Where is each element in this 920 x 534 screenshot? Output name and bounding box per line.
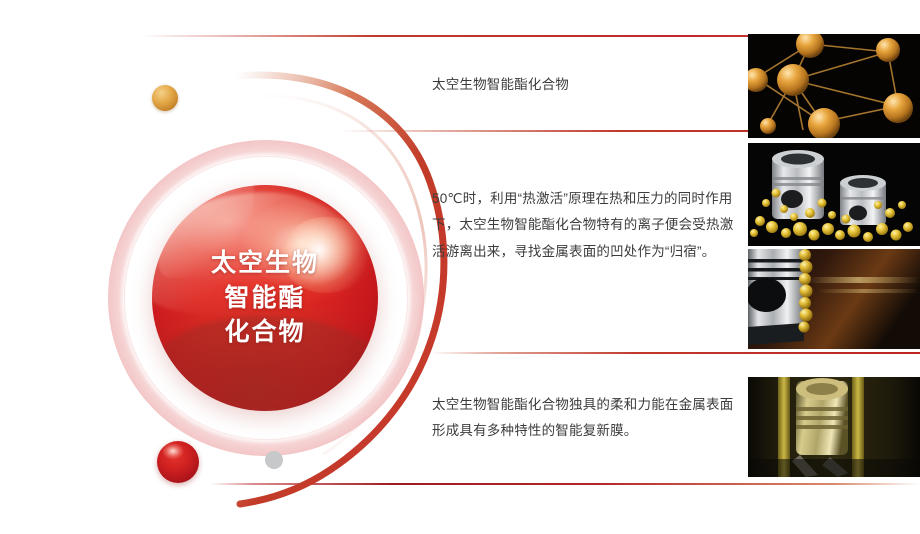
sphere-label: 太空生物 智能酯 化合物 <box>152 185 378 411</box>
text-block-2: 50℃时，利用“热激活”原理在热和压力的同时作用下，太空生物智能酯化合物特有的离… <box>432 186 742 265</box>
photo-piston-closeup <box>748 249 920 349</box>
sphere-label-line-3: 化合物 <box>224 315 305 350</box>
text-block-3: 太空生物智能酯化合物独具的柔和力能在金属表面形成具有多种特性的智能复新膜。 <box>432 392 742 445</box>
red-sphere-icon <box>157 441 199 483</box>
slide-canvas: 太空生物 智能酯 化合物 太空生物智能酯化合物 50℃时，利用“热激活”原理在热… <box>0 0 920 534</box>
photo-molecule <box>748 34 920 138</box>
gold-sphere-icon <box>152 85 178 111</box>
text-block-2-paragraph: 50℃时，利用“热激活”原理在热和压力的同时作用下，太空生物智能酯化合物特有的离… <box>432 186 742 265</box>
divider-lower <box>430 352 920 354</box>
photo-pistons <box>748 143 920 246</box>
sphere-label-line-2: 智能酯 <box>224 281 305 316</box>
text-block-3-paragraph: 太空生物智能酯化合物独具的柔和力能在金属表面形成具有多种特性的智能复新膜。 <box>432 392 742 445</box>
main-sphere: 太空生物 智能酯 化合物 <box>152 185 378 411</box>
sphere-label-line-1: 太空生物 <box>211 246 319 281</box>
text-block-1: 太空生物智能酯化合物 <box>432 72 742 98</box>
gray-dot-icon <box>265 451 283 469</box>
divider-bottom <box>210 483 920 485</box>
photo-cylinder <box>748 377 920 477</box>
text-block-1-paragraph: 太空生物智能酯化合物 <box>432 72 742 98</box>
